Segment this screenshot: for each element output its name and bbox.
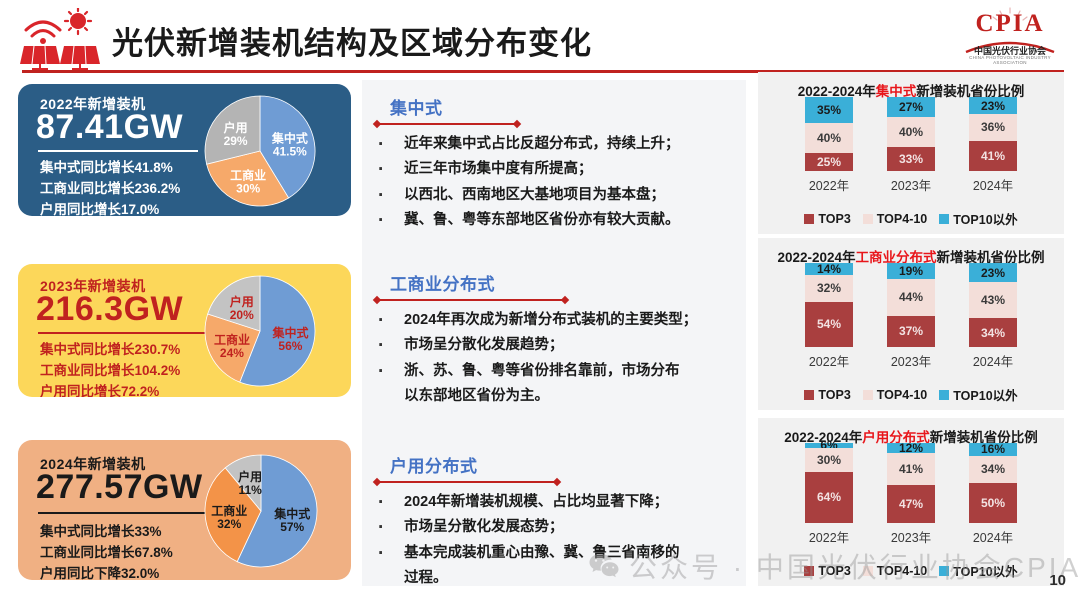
legend-item-top3: TOP3 xyxy=(804,212,850,226)
cpia-logo: CPIA 中国光伏行业协会 CHINA PHOTOVOLTAIC INDUSTR… xyxy=(956,6,1064,66)
bar-stack: 6%30%64% xyxy=(805,443,853,523)
bar-segment: 40% xyxy=(887,117,935,147)
bullet-list: 2024年新增装机规模、占比均显著下降； 市场呈分散化发展态势； 基本完成装机重… xyxy=(374,491,740,590)
bar-x-label: 2023年 xyxy=(891,351,931,370)
bar-segment: 34% xyxy=(969,456,1017,483)
bar-segment: 47% xyxy=(887,485,935,523)
card-line-3: 户用同比增长72.2% xyxy=(40,380,159,397)
bar-segment: 50% xyxy=(969,483,1017,523)
legend-item-top4-10: TOP4-10 xyxy=(863,564,928,578)
bar-x-label: 2022年 xyxy=(809,175,849,194)
legend-swatch-icon xyxy=(863,390,873,400)
legend-label: TOP10以外 xyxy=(953,209,1017,228)
section-heading: 工商业分布式 xyxy=(390,270,740,295)
legend-item-top3: TOP3 xyxy=(804,388,850,402)
bar-segment: 35% xyxy=(805,97,853,123)
section-underline xyxy=(376,299,566,301)
bar-segment: 41% xyxy=(969,141,1017,171)
bullet-item: 市场呈分散化发展态势； xyxy=(374,516,740,538)
legend-item-top4-10: TOP4-10 xyxy=(863,388,928,402)
pie-slice-value: 29% xyxy=(224,134,248,148)
bar-stack: 23%43%34% xyxy=(969,263,1017,347)
bar-stack: 16%34%50% xyxy=(969,443,1017,523)
bar-x-label: 2022年 xyxy=(809,351,849,370)
analysis-section-residential: 户用分布式 2024年新增装机规模、占比均显著下降； 市场呈分散化发展态势； 基… xyxy=(374,452,740,593)
pie-svg-2022: 集中式41.5%工商业30%户用29% xyxy=(196,92,324,210)
bar-stack: 12%41%47% xyxy=(887,443,935,523)
pie-slice-value: 30% xyxy=(236,182,260,196)
bar-segment: 27% xyxy=(887,97,935,117)
stacked-bar-chart-ci-distributed: 2022-2024年工商业分布式新增装机省份比例 14%32%54%2022年1… xyxy=(758,238,1064,410)
bullet-item-continuation: 以东部地区省份为主。 xyxy=(374,385,740,407)
chart-legend: TOP3 TOP4-10 TOP10以外 xyxy=(758,561,1064,580)
bar-segment: 19% xyxy=(887,263,935,279)
bar-segment: 33% xyxy=(887,147,935,171)
pie-slice-value: 41.5% xyxy=(273,145,307,159)
legend-item-top10-other: TOP10以外 xyxy=(939,385,1017,404)
bullet-item: 基本完成装机重心由豫、冀、鲁三省南移的 xyxy=(374,542,740,564)
pie-svg-2023: 集中式56%工商业24%户用20% xyxy=(196,272,324,390)
legend-swatch-icon xyxy=(939,566,949,576)
legend-item-top4-10: TOP4-10 xyxy=(863,212,928,226)
pie-slice-label: 集中式 xyxy=(271,325,308,340)
legend-label: TOP4-10 xyxy=(877,212,928,226)
section-underline xyxy=(376,481,558,483)
bar-segment: 23% xyxy=(969,97,1017,114)
card-line-1: 集中式同比增长41.8% xyxy=(40,156,173,176)
bar-segment: 40% xyxy=(805,123,853,153)
bar-column: 27%40%33%2023年 xyxy=(887,97,935,194)
bullet-item: 近年来集中式占比反超分布式，持续上升； xyxy=(374,133,740,155)
bar-column: 16%34%50%2024年 xyxy=(969,443,1017,546)
slide-root: 光伏新增装机结构及区域分布变化 CPIA 中国光伏行业协会 CHINA PHOT… xyxy=(0,0,1080,599)
bullet-item: 以西北、西南地区大基地项目为基本盘； xyxy=(374,184,740,206)
pie-slice-label: 工商业 xyxy=(230,168,266,183)
stacked-bar-chart-centralized: 2022-2024年集中式新增装机省份比例 35%40%25%2022年27%4… xyxy=(758,72,1064,234)
legend-label: TOP10以外 xyxy=(953,561,1017,580)
bar-segment: 12% xyxy=(887,443,935,453)
bar-segment: 25% xyxy=(805,153,853,172)
legend-swatch-icon xyxy=(939,214,949,224)
legend-swatch-icon xyxy=(939,390,949,400)
bullet-item: 2024年新增装机规模、占比均显著下降； xyxy=(374,491,740,513)
bar-segment: 34% xyxy=(969,318,1017,347)
bar-segment: 41% xyxy=(887,453,935,486)
bullet-list: 2024年再次成为新增分布式装机的主要类型； 市场呈分散化发展趋势； 浙、苏、鲁… xyxy=(374,309,740,408)
bar-x-label: 2024年 xyxy=(973,527,1013,546)
legend-label: TOP4-10 xyxy=(877,564,928,578)
bar-column: 6%30%64%2022年 xyxy=(805,443,853,546)
legend-item-top3: TOP3 xyxy=(804,564,850,578)
pie-slice-value: 24% xyxy=(220,346,244,360)
card-divider xyxy=(38,512,210,514)
bullet-list: 近年来集中式占比反超分布式，持续上升； 近三年市场集中度有所提高； 以西北、西南… xyxy=(374,133,740,232)
bar-x-label: 2024年 xyxy=(973,175,1013,194)
pie-slice-label: 工商业 xyxy=(211,503,247,518)
section-heading: 户用分布式 xyxy=(390,452,740,477)
bar-column: 14%32%54%2022年 xyxy=(805,263,853,370)
bar-x-label: 2024年 xyxy=(973,351,1013,370)
card-line-1: 集中式同比增长33% xyxy=(40,520,162,540)
pie-slice-label: 户用 xyxy=(238,469,262,484)
section-heading: 集中式 xyxy=(390,94,740,119)
pie-chart-2022: 集中式41.5%工商业30%户用29% xyxy=(196,92,324,210)
pie-slice-value: 57% xyxy=(280,520,304,534)
legend-label: TOP10以外 xyxy=(953,385,1017,404)
pie-slice-label: 工商业 xyxy=(214,332,250,347)
bar-segment: 37% xyxy=(887,316,935,347)
bullet-item-continuation: 过程。 xyxy=(374,567,740,589)
bar-column: 12%41%47%2023年 xyxy=(887,443,935,546)
pie-slice-label: 户用 xyxy=(230,294,254,309)
stacked-bar-chart-residential: 2022-2024年户用分布式新增装机省份比例 6%30%64%2022年12%… xyxy=(758,418,1064,586)
page-number: 10 xyxy=(1049,572,1066,589)
bars-area: 14%32%54%2022年19%44%37%2023年23%43%34%202… xyxy=(758,268,1064,370)
bar-column: 35%40%25%2022年 xyxy=(805,97,853,194)
bar-segment: 32% xyxy=(805,275,853,302)
solar-panel-icon xyxy=(18,8,104,70)
pie-slice-label: 户用 xyxy=(224,120,248,135)
legend-swatch-icon xyxy=(804,566,814,576)
bar-stack: 19%44%37% xyxy=(887,263,935,347)
bullet-item: 近三年市场集中度有所提高； xyxy=(374,158,740,180)
bar-stack: 35%40%25% xyxy=(805,97,853,171)
pie-chart-2023: 集中式56%工商业24%户用20% xyxy=(196,272,324,390)
bar-segment: 14% xyxy=(805,263,853,275)
legend-label: TOP3 xyxy=(818,388,850,402)
bar-column: 23%36%41%2024年 xyxy=(969,97,1017,194)
analysis-section-centralized: 集中式 近年来集中式占比反超分布式，持续上升； 近三年市场集中度有所提高； 以西… xyxy=(374,94,740,235)
legend-label: TOP4-10 xyxy=(877,388,928,402)
bar-column: 23%43%34%2024年 xyxy=(969,263,1017,370)
cpia-english-name: CHINA PHOTOVOLTAIC INDUSTRY ASSOCIATION xyxy=(956,55,1064,65)
legend-label: TOP3 xyxy=(818,212,850,226)
bar-segment: 16% xyxy=(969,443,1017,456)
bars-area: 6%30%64%2022年12%41%47%2023年16%34%50%2024… xyxy=(758,448,1064,546)
card-value: 216.3GW xyxy=(36,292,183,326)
pie-slice-value: 32% xyxy=(217,517,241,531)
legend-item-top10-other: TOP10以外 xyxy=(939,561,1017,580)
bullet-item: 冀、鲁、粤等东部地区省份亦有较大贡献。 xyxy=(374,209,740,231)
legend-label: TOP3 xyxy=(818,564,850,578)
pie-svg-2024: 集中式57%工商业32%户用11% xyxy=(196,450,326,572)
bar-segment: 36% xyxy=(969,114,1017,141)
bar-segment: 54% xyxy=(805,302,853,347)
slide-header: 光伏新增装机结构及区域分布变化 CPIA 中国光伏行业协会 CHINA PHOT… xyxy=(0,0,1080,76)
card-line-3: 户用同比增长17.0% xyxy=(40,198,159,216)
bar-column: 19%44%37%2023年 xyxy=(887,263,935,370)
bullet-item: 2024年再次成为新增分布式装机的主要类型； xyxy=(374,309,740,331)
bar-stack: 14%32%54% xyxy=(805,263,853,347)
card-divider xyxy=(38,150,198,152)
chart-legend: TOP3 TOP4-10 TOP10以外 xyxy=(758,385,1064,404)
legend-swatch-icon xyxy=(804,214,814,224)
legend-swatch-icon xyxy=(863,214,873,224)
page-title: 光伏新增装机结构及区域分布变化 xyxy=(112,18,592,63)
bar-stack: 27%40%33% xyxy=(887,97,935,171)
legend-swatch-icon xyxy=(863,566,873,576)
analysis-section-ci-distributed: 工商业分布式 2024年再次成为新增分布式装机的主要类型； 市场呈分散化发展趋势… xyxy=(374,270,740,411)
bar-x-label: 2023年 xyxy=(891,175,931,194)
card-divider xyxy=(38,332,208,334)
legend-swatch-icon xyxy=(804,390,814,400)
bar-segment: 43% xyxy=(969,282,1017,318)
card-line-3: 户用同比下降32.0% xyxy=(40,562,159,580)
bar-segment: 23% xyxy=(969,263,1017,282)
bar-x-label: 2022年 xyxy=(809,527,849,546)
bar-x-label: 2023年 xyxy=(891,527,931,546)
card-value: 87.41GW xyxy=(36,110,183,144)
card-line-2: 工商业同比增长236.2% xyxy=(40,177,180,197)
chart-legend: TOP3 TOP4-10 TOP10以外 xyxy=(758,209,1064,228)
legend-item-top10-other: TOP10以外 xyxy=(939,209,1017,228)
pie-slice-label: 集中式 xyxy=(273,506,310,521)
card-line-1: 集中式同比增长230.7% xyxy=(40,338,180,358)
bar-segment: 30% xyxy=(805,448,853,472)
pie-slice-value: 20% xyxy=(230,308,254,322)
card-line-2: 工商业同比增长67.8% xyxy=(40,541,173,561)
analysis-panel: 集中式 近年来集中式占比反超分布式，持续上升； 近三年市场集中度有所提高； 以西… xyxy=(362,80,746,586)
bar-stack: 23%36%41% xyxy=(969,97,1017,171)
bullet-item: 市场呈分散化发展趋势； xyxy=(374,334,740,356)
bar-segment: 44% xyxy=(887,279,935,316)
bars-area: 35%40%25%2022年27%40%33%2023年23%36%41%202… xyxy=(758,102,1064,194)
card-value: 277.57GW xyxy=(36,470,203,504)
pie-slice-value: 56% xyxy=(278,339,302,353)
card-line-2: 工商业同比增长104.2% xyxy=(40,359,180,379)
bar-segment: 64% xyxy=(805,472,853,523)
pie-chart-2024: 集中式57%工商业32%户用11% xyxy=(196,450,326,572)
cpia-wordmark: CPIA xyxy=(956,10,1064,38)
pie-slice-value: 11% xyxy=(238,483,262,497)
pie-slice-label: 集中式 xyxy=(271,131,308,146)
section-underline xyxy=(376,123,518,125)
bullet-item: 浙、苏、鲁、粤等省份排名靠前，市场分布 xyxy=(374,360,740,382)
